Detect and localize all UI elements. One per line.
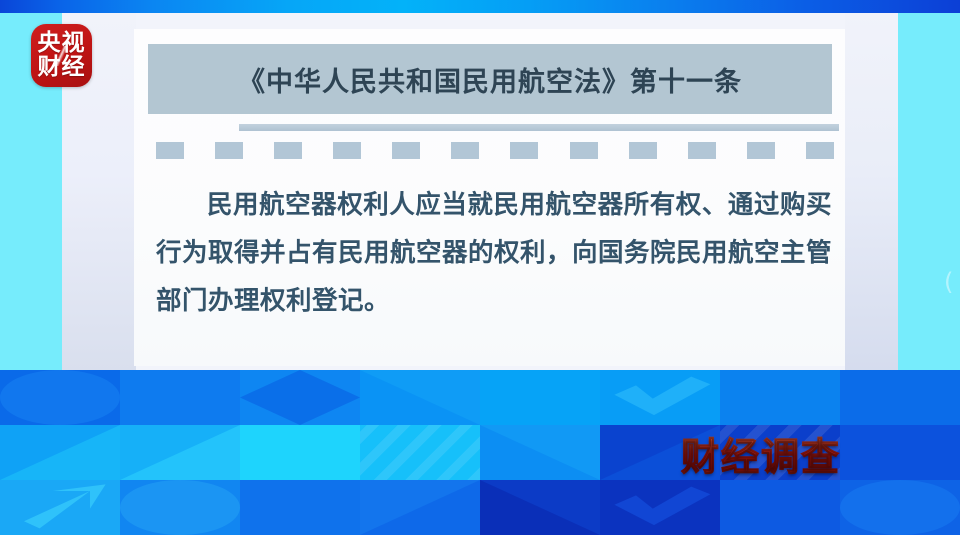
separator-dash <box>274 142 302 159</box>
mosaic-tile <box>240 370 360 425</box>
mosaic-tile <box>480 370 600 425</box>
mosaic-tile <box>720 480 840 535</box>
broadcast-screenshot: ( 《中华人民共和国民用航空法》第十一条 民用航空器权利人应当就民用航空器所有权… <box>0 0 960 535</box>
mosaic-tile-stripes <box>360 425 480 480</box>
mosaic-tile-check <box>600 370 720 425</box>
separator-dash <box>392 142 420 159</box>
mosaic-tile-circle <box>120 480 240 535</box>
mosaic-tile <box>840 370 960 425</box>
dashed-separator <box>156 142 834 159</box>
separator-dash <box>688 142 716 159</box>
title-accent-bar <box>239 124 839 131</box>
right-cyan-band <box>898 13 960 370</box>
article-title: 《中华人民共和国民用航空法》第十一条 <box>238 60 742 99</box>
cctv-finance-logo: 央视 财经 <box>31 24 92 87</box>
article-title-band: 《中华人民共和国民用航空法》第十一条 <box>148 44 832 114</box>
top-accent-strip <box>0 0 960 13</box>
mosaic-tile <box>840 425 960 480</box>
mosaic-tile-tri-br <box>120 425 240 480</box>
mosaic-tile-circle <box>840 480 960 535</box>
separator-dash <box>570 142 598 159</box>
separator-dash <box>747 142 775 159</box>
separator-dash <box>156 142 184 159</box>
mosaic-tile-tri-tr <box>360 370 480 425</box>
mosaic-tile <box>480 425 600 480</box>
mosaic-tile-tri-tl <box>360 480 480 535</box>
mosaic-tile <box>600 480 720 535</box>
mosaic-tile-diamond <box>240 370 360 425</box>
mosaic-tile-tri-tl <box>0 425 120 480</box>
side-paren-mark: ( <box>944 268 956 296</box>
mosaic-tile-tri-bl <box>240 480 360 535</box>
article-body-text: 民用航空器权利人应当就民用航空器所有权、通过购买行为取得并占有民用航空器的权利，… <box>156 181 832 325</box>
separator-dash <box>629 142 657 159</box>
mosaic-tile-tri-tr <box>480 425 600 480</box>
mosaic-tile <box>600 370 720 425</box>
mosaic-tile <box>360 370 480 425</box>
separator-dash <box>215 142 243 159</box>
mosaic-tile <box>120 370 240 425</box>
separator-dash <box>451 142 479 159</box>
mosaic-tile <box>0 370 120 425</box>
mosaic-tile <box>120 480 240 535</box>
logo-line-two: 财经 <box>31 54 92 80</box>
mosaic-tile <box>240 425 360 480</box>
mosaic-tile <box>720 370 840 425</box>
mosaic-tile <box>120 425 240 480</box>
program-title-badge: 财经调查 <box>668 428 854 478</box>
mosaic-tile <box>240 480 360 535</box>
mosaic-tile <box>840 480 960 535</box>
mosaic-tile <box>360 480 480 535</box>
program-title-text: 财经调查 <box>681 426 841 481</box>
separator-dash <box>333 142 361 159</box>
law-article-card: 《中华人民共和国民用航空法》第十一条 民用航空器权利人应当就民用航空器所有权、通… <box>134 29 845 366</box>
mosaic-tile <box>360 425 480 480</box>
separator-dash <box>806 142 834 159</box>
mosaic-tile <box>480 480 600 535</box>
logo-line-one: 央视 <box>31 30 92 56</box>
right-lavender-band <box>845 13 898 370</box>
mosaic-tile-check <box>600 480 720 535</box>
mosaic-tile-arrow <box>0 480 120 535</box>
mosaic-tile <box>0 480 120 535</box>
mosaic-tile <box>0 425 120 480</box>
mosaic-tile-tri-tr <box>480 480 600 535</box>
separator-dash <box>510 142 538 159</box>
mosaic-tile-circle <box>0 370 120 425</box>
